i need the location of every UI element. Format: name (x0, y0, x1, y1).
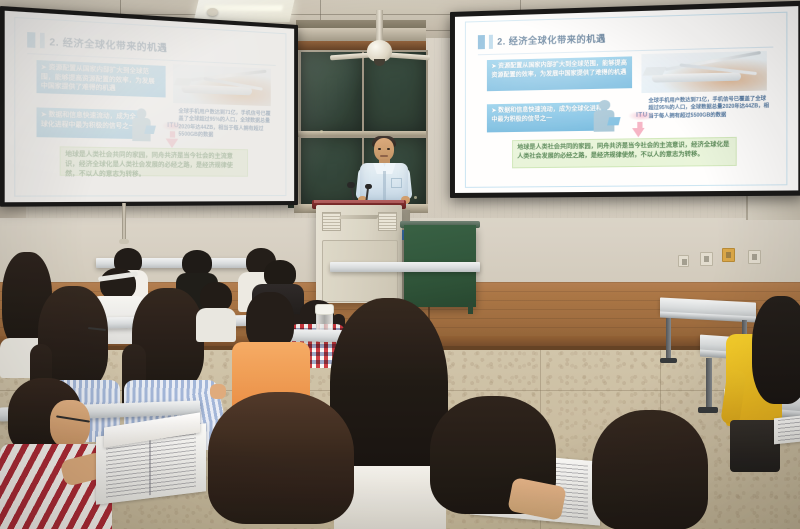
blackboard-mark (320, 130, 323, 133)
slide-conclusion-right: 地球是人类社会共同的家园，同舟共济是当今社会的主流意识，经济全球化是人类社会发展… (512, 137, 736, 168)
person-laptop-icon (131, 108, 153, 141)
wall-outlet-2[interactable] (748, 250, 761, 264)
student-hair (752, 296, 800, 404)
open-textbook (774, 414, 800, 445)
student-far-right-foreground (592, 410, 712, 529)
blackboard-panel (362, 50, 428, 138)
slide-left: 2. 经济全球化带来的机遇 ➤ 资源配置从国家内部扩大到全球范围，能够提高资源配… (5, 11, 294, 203)
projection-screen-left[interactable]: 2. 经济全球化带来的机遇 ➤ 资源配置从国家内部扩大到全球范围，能够提高资源配… (0, 6, 298, 207)
wall-outlet[interactable] (700, 252, 713, 266)
projection-screen-right[interactable]: 2. 经济全球化带来的机遇 ➤ 资源配置从国家内部扩大到全球范围，能够提高资源配… (450, 1, 800, 198)
fan-pole (376, 10, 383, 44)
slide-bullet-box-1: ➤ 资源配置从国家内部扩大到全球范围，能够提高资源配置的效率，为发展中国家提供了… (487, 56, 632, 91)
screen-left-pull-rod[interactable] (122, 203, 126, 241)
student-yellow-shirt (722, 300, 800, 475)
wall-switch[interactable] (722, 248, 735, 262)
student-hair (208, 392, 354, 524)
down-arrow-stem (637, 121, 642, 127)
student-mid-small (196, 282, 236, 334)
down-arrow-stem (169, 131, 174, 137)
airplane-photo (173, 64, 270, 106)
ceiling-sensor-icon (207, 8, 218, 16)
slide-title-right: 2. 经济全球化带来的机遇 (497, 32, 606, 48)
microphone-icon (347, 182, 355, 188)
person-laptop-icon (592, 100, 618, 132)
blackboard-mark (414, 196, 417, 199)
down-arrow-icon (165, 138, 178, 148)
slide-conclusion-left: 地球是人类社会共同的家园，同舟共济是当今社会的主流意识，经济全球化是人类社会发展… (59, 146, 248, 177)
wall-outlet-3[interactable] (678, 255, 689, 267)
blackboard-wood-rail (296, 41, 426, 50)
title-marker-icon-2 (40, 33, 45, 48)
screen-right-surface: 2. 经济全球化带来的机遇 ➤ 资源配置从国家内部扩大到全球范围，能够提高资源配… (455, 6, 798, 193)
desk-back-center (330, 262, 480, 272)
lectern-slot (339, 215, 379, 219)
slide-title-left: 2. 经济全球化带来的机遇 (49, 34, 167, 54)
student-face (50, 400, 90, 448)
slide-bullet-box-2: ➤ 数据和信息快速流动，成为全球化进程中最为积极的信号之一 (487, 102, 606, 132)
classroom-scene: 2. 经济全球化带来的机遇 ➤ 资源配置从国家内部扩大到全球范围，能够提高资源配… (0, 0, 800, 529)
slide-bullet-box-1: ➤ 资源配置从国家内部扩大到全球范围，能够提高资源配置的效率，为发展中国家提供了… (36, 60, 165, 98)
microphone-icon-2 (365, 184, 372, 189)
screen-left-pull-knob[interactable] (119, 239, 129, 244)
slide-right: 2. 经济全球化带来的机遇 ➤ 资源配置从国家内部扩大到全球范围，能够提高资源配… (455, 6, 798, 193)
student-hair (592, 410, 708, 529)
lecturer-head (374, 138, 394, 161)
airplane-photo (642, 51, 766, 93)
student-arm (507, 477, 566, 521)
student-brown-hair-foreground (208, 392, 358, 529)
lectern-speaker-grille-left (322, 212, 341, 231)
title-marker-icon-2 (489, 35, 493, 49)
blackboard-panel (299, 50, 365, 138)
slide-stats-right: 全球手机用户数达到71亿，手机信号已覆盖了全球超过95%的人口，全球数据总量20… (648, 95, 769, 124)
title-marker-icon (27, 32, 35, 48)
slide-stats-left: 全球手机用户数达到71亿，手机信号已覆盖了全球超过95%的人口，全球数据总量20… (178, 108, 273, 137)
blackboard-metal-rail (296, 28, 426, 42)
screen-left-surface: 2. 经济全球化带来的机遇 ➤ 资源配置从国家内部扩大到全球范围，能够提高资源配… (5, 11, 294, 203)
down-arrow-icon (632, 128, 645, 137)
student-foreground-right (430, 396, 560, 529)
student-backpack (730, 420, 780, 472)
slide-bullet-box-2: ➤ 数据和信息快速流动，成为全球化进程中最为积极的信号之一 (36, 107, 143, 139)
title-marker-icon (478, 35, 485, 49)
lectern-speaker-grille-right (378, 212, 397, 231)
